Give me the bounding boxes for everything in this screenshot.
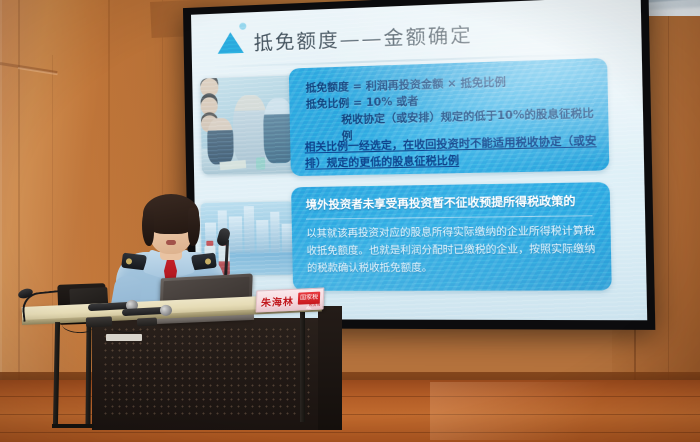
podium-panel-right — [318, 306, 342, 430]
presenter-mouth — [166, 240, 176, 245]
presentation-slide: 抵免额度——金额确定 抵免额度 = 利润再投资金额 × 抵免比例 — [191, 0, 647, 320]
policy-box-heading: 境外投资者未享受再投资暂不征收预提所得税政策的 — [306, 193, 602, 213]
nameplate: 朱海林 国家税务 税务局 — [256, 287, 325, 312]
policy-box-divider — [306, 215, 592, 219]
meeting-people-at-table-photo — [200, 75, 299, 174]
epaulette-right — [191, 253, 217, 271]
presentation-room-photo: 抵免额度——金额确定 抵免额度 = 利润再投资金额 × 抵免比例 — [0, 0, 700, 442]
blue-triangle-bullet-icon — [217, 32, 244, 54]
hair-side-left — [142, 208, 154, 246]
desk-leg-right — [300, 312, 305, 422]
desk-foot — [52, 424, 94, 428]
floor-reflection — [430, 382, 700, 440]
slide-title: 抵免额度——金额确定 — [253, 20, 473, 56]
nameplate-name: 朱海林 — [261, 293, 295, 310]
formula-box: 抵免额度 = 利润再投资金额 × 抵免比例 抵免比例 = 10% 或者 税收协定… — [289, 58, 610, 176]
podium-plate — [106, 334, 142, 341]
nameplate-subtext: 税务局 — [309, 303, 321, 309]
slide-title-row: 抵免额度——金额确定 — [217, 20, 473, 57]
projection-screen[interactable]: 抵免额度——金额确定 抵免额度 = 利润再投资金额 × 抵免比例 — [191, 0, 647, 320]
hair-side-right — [188, 208, 200, 246]
podium-panel — [92, 318, 324, 430]
projection-screen-bezel: 抵免额度——金额确定 抵免额度 = 利润再投资金额 × 抵免比例 — [183, 0, 655, 330]
policy-box: 境外投资者未享受再投资暂不征收预提所得税政策的 以其就该再投资对应的股息所得实际… — [291, 182, 612, 291]
audio-cable-right — [112, 322, 146, 333]
formula-line-1: 抵免额度 = 利润再投资金额 × 抵免比例 — [305, 76, 506, 94]
policy-box-body: 以其就该再投资对应的股息所得实际缴纳的企业所得税计算税收抵免额度。也就是利润分配… — [306, 223, 600, 278]
formula-note-underlined: 相关比例一经选定，在收回投资时不能适用税收协定（或安排）规定的更低的股息征税比例 — [304, 132, 600, 171]
formula-line-2: 抵免比例 = 10% 或者 — [306, 95, 419, 110]
